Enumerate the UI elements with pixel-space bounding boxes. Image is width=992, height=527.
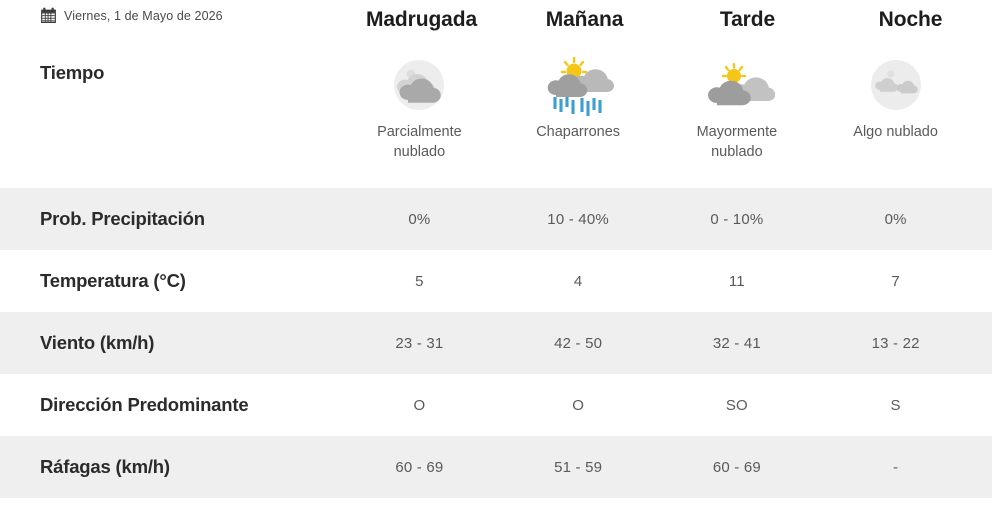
row-label-precipitacion: Prob. Precipitación bbox=[20, 188, 340, 250]
date-cell: Viernes, 1 de Mayo de 2026 bbox=[20, 0, 340, 24]
table-row-rafagas: Ráfagas (km/h) 60 - 69 51 - 59 60 - 69 - bbox=[0, 436, 992, 498]
value-direccion-madrugada: O bbox=[340, 374, 499, 436]
mostly-cloudy-icon bbox=[699, 54, 775, 120]
table-header: Viernes, 1 de Mayo de 2026 Madrugada Mañ… bbox=[0, 0, 992, 48]
condition-text-madrugada: Parcialmente nublado bbox=[359, 122, 479, 162]
value-precipitacion-tarde: 0 - 10% bbox=[658, 188, 817, 250]
partly-cloudy-icon bbox=[381, 54, 457, 120]
condition-cell-noche: Algo nublado bbox=[816, 48, 975, 188]
condition-cell-manana: Chaparrones bbox=[499, 48, 658, 188]
row-label-direccion: Dirección Predominante bbox=[20, 374, 340, 436]
weather-forecast-table: Viernes, 1 de Mayo de 2026 Madrugada Mañ… bbox=[0, 0, 992, 527]
calendar-icon bbox=[40, 7, 57, 24]
column-header-tarde: Tarde bbox=[666, 0, 829, 32]
condition-text-tarde: Mayormente nublado bbox=[677, 122, 797, 162]
forecast-date: Viernes, 1 de Mayo de 2026 bbox=[64, 9, 223, 23]
value-temperatura-tarde: 11 bbox=[658, 250, 817, 312]
condition-text-manana: Chaparrones bbox=[536, 122, 620, 142]
table-row-direccion: Dirección Predominante O O SO S bbox=[0, 374, 992, 436]
value-viento-tarde: 32 - 41 bbox=[658, 312, 817, 374]
column-header-madrugada: Madrugada bbox=[340, 0, 503, 32]
table-row-viento: Viento (km/h) 23 - 31 42 - 50 32 - 41 13… bbox=[0, 312, 992, 374]
row-label-tiempo: Tiempo bbox=[20, 48, 340, 188]
value-rafagas-tarde: 60 - 69 bbox=[658, 436, 817, 498]
value-direccion-manana: O bbox=[499, 374, 658, 436]
value-rafagas-manana: 51 - 59 bbox=[499, 436, 658, 498]
value-viento-manana: 42 - 50 bbox=[499, 312, 658, 374]
value-direccion-tarde: SO bbox=[658, 374, 817, 436]
value-precipitacion-manana: 10 - 40% bbox=[499, 188, 658, 250]
slightly-cloudy-icon bbox=[858, 54, 934, 120]
condition-cell-tarde: Mayormente nublado bbox=[658, 48, 817, 188]
value-rafagas-noche: - bbox=[816, 436, 975, 498]
value-viento-madrugada: 23 - 31 bbox=[340, 312, 499, 374]
row-label-temperatura: Temperatura (°C) bbox=[20, 250, 340, 312]
column-header-manana: Mañana bbox=[503, 0, 666, 32]
value-direccion-noche: S bbox=[816, 374, 975, 436]
value-temperatura-manana: 4 bbox=[499, 250, 658, 312]
value-precipitacion-madrugada: 0% bbox=[340, 188, 499, 250]
value-rafagas-madrugada: 60 - 69 bbox=[340, 436, 499, 498]
value-temperatura-madrugada: 5 bbox=[340, 250, 499, 312]
value-viento-noche: 13 - 22 bbox=[816, 312, 975, 374]
condition-cell-madrugada: Parcialmente nublado bbox=[340, 48, 499, 188]
showers-icon bbox=[540, 54, 616, 120]
row-label-rafagas: Ráfagas (km/h) bbox=[20, 436, 340, 498]
row-label-viento: Viento (km/h) bbox=[20, 312, 340, 374]
value-temperatura-noche: 7 bbox=[816, 250, 975, 312]
table-row-tiempo: Tiempo Parcialmente nublado bbox=[0, 48, 992, 188]
table-row-temperatura: Temperatura (°C) 5 4 11 7 bbox=[0, 250, 992, 312]
column-header-noche: Noche bbox=[829, 0, 992, 32]
value-precipitacion-noche: 0% bbox=[816, 188, 975, 250]
table-row-precipitacion: Prob. Precipitación 0% 10 - 40% 0 - 10% … bbox=[0, 188, 992, 250]
condition-text-noche: Algo nublado bbox=[853, 122, 938, 142]
